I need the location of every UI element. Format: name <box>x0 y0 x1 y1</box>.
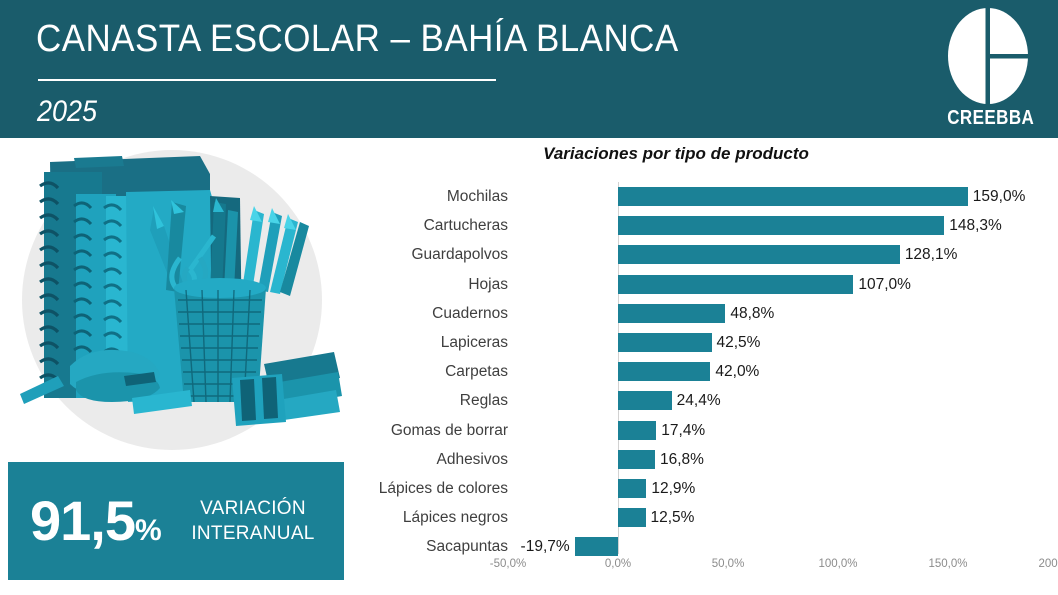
chart-bar-track: 148,3% <box>508 211 1058 240</box>
chart-bar[interactable] <box>618 421 656 440</box>
chart-x-tick-label: 200,0% <box>1038 558 1058 570</box>
header-divider <box>38 79 496 81</box>
creebba-logo-text: CREEBBA <box>947 107 1029 130</box>
chart-row: Lápices negros12,5% <box>356 503 1058 532</box>
chart-x-tick-label: 50,0% <box>712 558 745 570</box>
chart-row: Reglas24,4% <box>356 386 1058 415</box>
chart-row: Cartucheras148,3% <box>356 211 1058 240</box>
chart-value-label: 16,8% <box>660 445 704 474</box>
chart-value-label: 24,4% <box>677 386 721 415</box>
chart-row: Hojas107,0% <box>356 270 1058 299</box>
chart-bar[interactable] <box>618 245 900 264</box>
chart-bar-track: 107,0% <box>508 270 1058 299</box>
chart-row: Mochilas159,0% <box>356 182 1058 211</box>
chart-value-label: 12,5% <box>651 503 695 532</box>
creebba-logo-icon <box>946 6 1030 110</box>
chart-x-tick-label: 100,0% <box>818 558 857 570</box>
chart-bar[interactable] <box>618 275 853 294</box>
chart-bar[interactable] <box>575 537 618 556</box>
stat-percent-symbol: % <box>135 514 161 547</box>
chart-category-label: Lápices de colores <box>356 474 508 503</box>
chart-bar-track: 128,1% <box>508 240 1058 269</box>
page-header: CANASTA ESCOLAR – BAHÍA BLANCA 2025 CREE… <box>0 0 1058 138</box>
chart-bar[interactable] <box>618 391 672 410</box>
chart-bar[interactable] <box>618 479 646 498</box>
chart-plot-area: Mochilas159,0%Cartucheras148,3%Guardapol… <box>356 182 1058 554</box>
header-year: 2025 <box>37 95 97 129</box>
chart-row: Carpetas42,0% <box>356 357 1058 386</box>
chart-bar[interactable] <box>618 216 944 235</box>
chart-row: Adhesivos16,8% <box>356 445 1058 474</box>
chart-category-label: Sacapuntas <box>356 532 508 561</box>
chart-category-label: Hojas <box>356 270 508 299</box>
chart-bar-track: 16,8% <box>508 445 1058 474</box>
chart-bar-track: 12,5% <box>508 503 1058 532</box>
stat-label-line-2: INTERANUAL <box>180 521 326 546</box>
chart-bar[interactable] <box>618 508 646 527</box>
chart-category-label: Carpetas <box>356 357 508 386</box>
chart-category-label: Lápices negros <box>356 503 508 532</box>
chart-value-label: 159,0% <box>973 182 1026 211</box>
chart-category-label: Lapiceras <box>356 328 508 357</box>
chart-bar[interactable] <box>618 304 725 323</box>
chart-value-label: 128,1% <box>905 240 958 269</box>
chart-bar[interactable] <box>618 333 712 352</box>
stat-label: VARIACIÓN INTERANUAL <box>180 496 326 546</box>
chart-bar[interactable] <box>618 187 968 206</box>
chart-value-label: 42,5% <box>717 328 761 357</box>
creebba-logo: CREEBBA <box>940 6 1036 132</box>
school-supplies-illustration <box>14 140 354 440</box>
chart-value-label: 107,0% <box>858 270 911 299</box>
chart-category-label: Mochilas <box>356 182 508 211</box>
chart-bar-track: 12,9% <box>508 474 1058 503</box>
chart-x-axis: -50,0%0,0%50,0%100,0%150,0%200,0% <box>508 558 1058 580</box>
chart-value-label: 12,9% <box>651 474 695 503</box>
school-supplies-figure <box>0 140 360 460</box>
chart-title: Variaciones por tipo de producto <box>356 144 996 164</box>
chart-category-label: Gomas de borrar <box>356 416 508 445</box>
chart-value-label: 148,3% <box>949 211 1002 240</box>
chart-x-tick-label: 150,0% <box>928 558 967 570</box>
chart-bar-track: 24,4% <box>508 386 1058 415</box>
chart-bar-track: 48,8% <box>508 299 1058 328</box>
chart-x-tick-label: 0,0% <box>605 558 631 570</box>
chart-row: Gomas de borrar17,4% <box>356 416 1058 445</box>
stat-value: 91,5% <box>30 490 161 562</box>
chart-bar-track: 159,0% <box>508 182 1058 211</box>
page-title: CANASTA ESCOLAR – BAHÍA BLANCA <box>36 18 679 61</box>
chart-value-label: 42,0% <box>715 357 759 386</box>
stat-number: 91,5 <box>30 489 135 552</box>
chart-bar-track: 17,4% <box>508 416 1058 445</box>
chart-bar[interactable] <box>618 362 710 381</box>
chart-bar[interactable] <box>618 450 655 469</box>
annual-variation-stat: 91,5% VARIACIÓN INTERANUAL <box>8 462 344 580</box>
chart-bar-track: 42,0% <box>508 357 1058 386</box>
chart-category-label: Guardapolvos <box>356 240 508 269</box>
chart-category-label: Cartucheras <box>356 211 508 240</box>
chart-value-label: 17,4% <box>661 416 705 445</box>
stat-label-line-1: VARIACIÓN <box>180 496 326 521</box>
chart-bar-track: 42,5% <box>508 328 1058 357</box>
chart-category-label: Reglas <box>356 386 508 415</box>
chart-row: Guardapolvos128,1% <box>356 240 1058 269</box>
chart-category-label: Cuadernos <box>356 299 508 328</box>
chart-row: Lapiceras42,5% <box>356 328 1058 357</box>
chart-category-label: Adhesivos <box>356 445 508 474</box>
chart-x-tick-label: -50,0% <box>490 558 526 570</box>
chart-row: Cuadernos48,8% <box>356 299 1058 328</box>
variations-bar-chart: Variaciones por tipo de producto Mochila… <box>356 140 1058 595</box>
chart-row: Lápices de colores12,9% <box>356 474 1058 503</box>
chart-value-label: 48,8% <box>730 299 774 328</box>
